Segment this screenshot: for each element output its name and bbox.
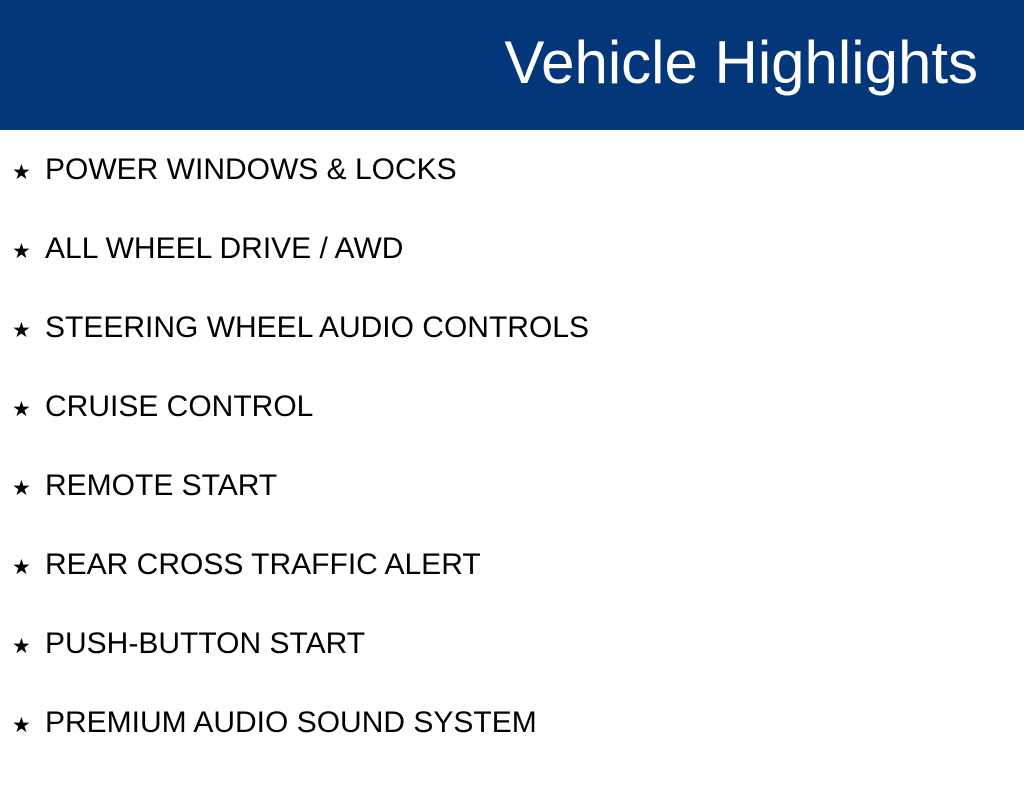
highlight-label: PREMIUM AUDIO SOUND SYSTEM (45, 708, 537, 738)
slide-header-band: Vehicle Highlights (0, 0, 1024, 130)
highlight-label: REAR CROSS TRAFFIC ALERT (45, 550, 481, 580)
star-bullet-icon: ★ (12, 636, 45, 657)
vehicle-highlights-list: ★ POWER WINDOWS & LOCKS ★ ALL WHEEL DRIV… (0, 130, 1024, 787)
highlight-label: POWER WINDOWS & LOCKS (45, 155, 457, 185)
star-bullet-icon: ★ (12, 557, 45, 578)
vehicle-highlights-slide: Vehicle Highlights ★ POWER WINDOWS & LOC… (0, 0, 1024, 768)
page-title: Vehicle Highlights (504, 33, 978, 97)
list-item: ★ CRUISE CONTROL (0, 392, 1024, 471)
highlight-label: STEERING WHEEL AUDIO CONTROLS (45, 313, 589, 343)
list-item: ★ POWER WINDOWS & LOCKS (0, 155, 1024, 234)
list-item: ★ ALL WHEEL DRIVE / AWD (0, 234, 1024, 313)
highlight-label: ALL WHEEL DRIVE / AWD (45, 234, 403, 264)
star-bullet-icon: ★ (12, 478, 45, 499)
list-item: ★ REAR CROSS TRAFFIC ALERT (0, 550, 1024, 629)
star-bullet-icon: ★ (12, 162, 45, 183)
star-bullet-icon: ★ (12, 399, 45, 420)
star-bullet-icon: ★ (12, 715, 45, 736)
highlight-label: REMOTE START (45, 471, 277, 501)
star-bullet-icon: ★ (12, 320, 45, 341)
list-item: ★ REMOTE START (0, 471, 1024, 550)
star-bullet-icon: ★ (12, 241, 45, 262)
highlight-label: PUSH-BUTTON START (45, 629, 365, 659)
highlight-label: CRUISE CONTROL (45, 392, 313, 422)
list-item: ★ STEERING WHEEL AUDIO CONTROLS (0, 313, 1024, 392)
list-item: ★ PREMIUM AUDIO SOUND SYSTEM (0, 708, 1024, 787)
list-item: ★ PUSH-BUTTON START (0, 629, 1024, 708)
